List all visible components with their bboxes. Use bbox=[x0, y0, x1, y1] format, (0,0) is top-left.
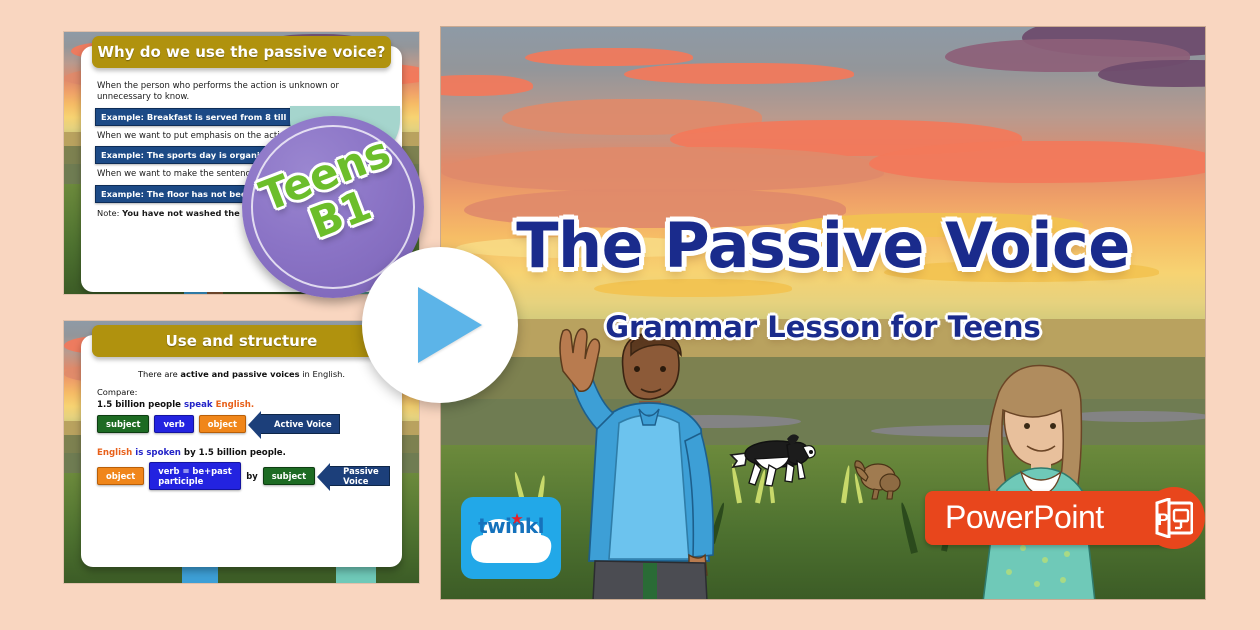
lead-post: in English. bbox=[300, 369, 345, 379]
chip-verb: verb bbox=[154, 415, 193, 433]
powerpoint-badge: PowerPoint P bbox=[925, 491, 1207, 545]
play-preview-button[interactable] bbox=[362, 247, 518, 403]
slide-2-lead: There are active and passive voices in E… bbox=[93, 369, 390, 379]
sentence-part: speak bbox=[184, 400, 216, 410]
cloud-shape bbox=[869, 141, 1206, 183]
sentence-part: 1.5 billion people bbox=[97, 400, 184, 410]
cloud-shape bbox=[441, 147, 884, 192]
active-voice-tag: Active Voice bbox=[259, 414, 340, 434]
twinkl-logo: twinkl bbox=[461, 497, 561, 579]
powerpoint-badge-label: PowerPoint bbox=[945, 499, 1104, 536]
chip-object: object bbox=[97, 467, 144, 485]
powerpoint-icon: P bbox=[1143, 487, 1205, 549]
sentence-part: by 1.5 billion people. bbox=[184, 448, 286, 458]
slide-2-header-bar: Use and structure bbox=[92, 325, 391, 357]
slide-1-paragraph: When the person who performs the action … bbox=[97, 81, 386, 104]
passive-voice-sentence: English is spoken by 1.5 billion people. bbox=[97, 448, 390, 458]
cloud-shape bbox=[624, 63, 853, 84]
slide-1-header-bar: Why do we use the passive voice? bbox=[92, 36, 391, 68]
play-triangle-icon bbox=[418, 287, 482, 363]
passive-voice-chip-row: object verb = be+past participle by subj… bbox=[97, 462, 390, 490]
sentence-part: is spoken bbox=[135, 448, 184, 458]
sentence-part: English bbox=[97, 448, 135, 458]
cloud-shape bbox=[525, 48, 693, 66]
svg-text:P: P bbox=[1157, 510, 1168, 529]
chip-object: object bbox=[199, 415, 246, 433]
girl-character-illustration bbox=[941, 332, 1121, 600]
active-voice-chip-row: subject verb object Active Voice bbox=[97, 414, 390, 434]
dog-illustration bbox=[725, 427, 845, 495]
star-icon bbox=[511, 513, 523, 525]
chip-by-word: by bbox=[246, 471, 257, 481]
note-label: Note: bbox=[97, 208, 119, 218]
sentence-part: English. bbox=[216, 400, 255, 410]
slide-thumbnail-2[interactable]: Use and structure There are active and p… bbox=[63, 320, 420, 584]
main-slide-subtitle: Grammar Lesson for Teens bbox=[441, 310, 1205, 344]
lead-bold: active and passive voices bbox=[180, 369, 299, 379]
lead-pre: There are bbox=[138, 369, 180, 379]
chip-subject: subject bbox=[263, 467, 315, 485]
grass-blade bbox=[899, 502, 918, 554]
chip-subject: subject bbox=[97, 415, 149, 433]
slide-1-header-text: Why do we use the passive voice? bbox=[97, 43, 385, 61]
rabbit-illustration bbox=[846, 457, 904, 501]
passive-voice-tag: Passive Voice bbox=[328, 466, 390, 486]
cloud-shape bbox=[440, 75, 533, 96]
chip-verb-formula: verb = be+past participle bbox=[149, 462, 241, 490]
active-voice-sentence: 1.5 billion people speak English. bbox=[97, 400, 390, 410]
compare-label: Compare: bbox=[97, 387, 390, 397]
main-slide-title: The Passive Voice bbox=[441, 209, 1205, 282]
slide-2-header-text: Use and structure bbox=[166, 332, 318, 350]
slide-2-card: Use and structure There are active and p… bbox=[81, 335, 402, 567]
